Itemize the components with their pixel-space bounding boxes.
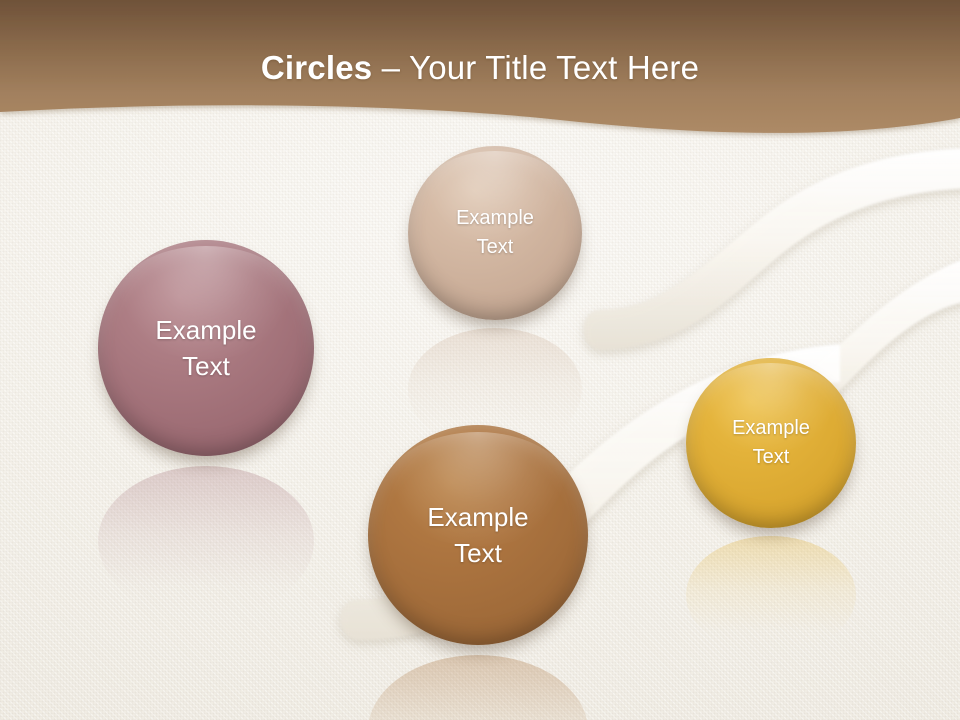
circle-shape-gold[interactable]: Example Text bbox=[686, 358, 856, 528]
circle-label-beige-line1: Example bbox=[456, 204, 534, 233]
circle-label-gold-line1: Example bbox=[732, 414, 810, 443]
circle-shape-mauve[interactable]: Example Text bbox=[98, 240, 314, 456]
circle-node-beige[interactable]: Example Text bbox=[408, 146, 582, 320]
circle-label-mauve-line1: Example bbox=[155, 312, 256, 348]
circle-reflection-gold bbox=[686, 536, 856, 654]
circles-group: Example Text Example Text Example Text bbox=[0, 0, 960, 720]
circle-node-gold[interactable]: Example Text bbox=[686, 358, 856, 528]
circle-label-brown-line2: Text bbox=[427, 535, 528, 571]
circle-node-mauve[interactable]: Example Text bbox=[98, 240, 314, 456]
presentation-slide: Circles – Your Title Text Here Example T… bbox=[0, 0, 960, 720]
circle-label-gold-line2: Text bbox=[732, 443, 810, 472]
circle-node-brown[interactable]: Example Text bbox=[368, 425, 588, 645]
circle-shape-beige[interactable]: Example Text bbox=[408, 146, 582, 320]
circle-label-beige-line2: Text bbox=[456, 233, 534, 262]
circle-reflection-brown bbox=[368, 655, 588, 720]
circle-shape-brown[interactable]: Example Text bbox=[368, 425, 588, 645]
circle-label-mauve-line2: Text bbox=[155, 348, 256, 384]
circle-reflection-mauve bbox=[98, 466, 314, 616]
circle-label-brown-line1: Example bbox=[427, 499, 528, 535]
